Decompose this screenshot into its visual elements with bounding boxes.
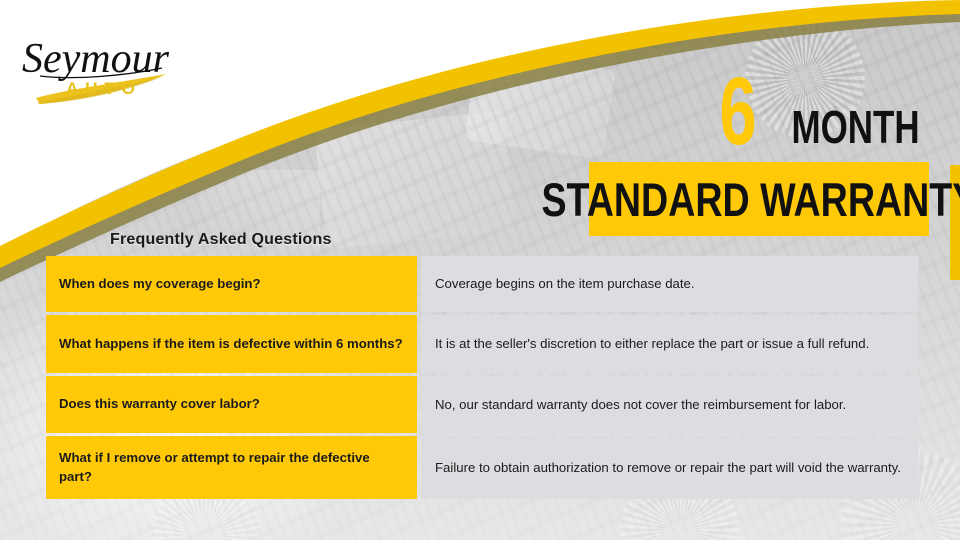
faq-answer-cell: No, our standard warranty does not cover… (421, 376, 918, 433)
warranty-slide: Seymour AUTO 6 MONTH STANDARD WARRANTY F… (0, 0, 960, 540)
standard-warranty-label: STANDARD WARRANTY (541, 176, 960, 223)
faq-question-cell: Does this warranty cover labor? (46, 376, 417, 433)
table-row: Does this warranty cover labor? No, our … (46, 376, 918, 433)
faq-heading: Frequently Asked Questions (110, 231, 332, 249)
warranty-duration-unit: MONTH (792, 104, 920, 150)
table-row: What if I remove or attempt to repair th… (46, 436, 918, 499)
table-row: What happens if the item is defective wi… (46, 315, 918, 373)
warranty-badge-top: 6 MONTH (589, 50, 929, 154)
table-row: When does my coverage begin? Coverage be… (46, 256, 918, 312)
seymour-auto-logo[interactable]: Seymour AUTO (14, 16, 204, 108)
warranty-duration-number: 6 (719, 71, 755, 154)
logo-sub-text: AUTO (66, 79, 142, 98)
faq-question-cell: When does my coverage begin? (46, 256, 417, 312)
warranty-badge: 6 MONTH STANDARD WARRANTY (589, 50, 929, 236)
faq-question-cell: What if I remove or attempt to repair th… (46, 436, 417, 499)
faq-answer-cell: Failure to obtain authorization to remov… (421, 436, 918, 499)
faq-answer-cell: It is at the seller's discretion to eith… (421, 315, 918, 373)
faq-table: When does my coverage begin? Coverage be… (46, 256, 918, 499)
faq-answer-cell: Coverage begins on the item purchase dat… (421, 256, 918, 312)
standard-warranty-bar: STANDARD WARRANTY (589, 162, 929, 236)
logo-script-text: Seymour (22, 36, 170, 82)
faq-question-cell: What happens if the item is defective wi… (46, 315, 417, 373)
